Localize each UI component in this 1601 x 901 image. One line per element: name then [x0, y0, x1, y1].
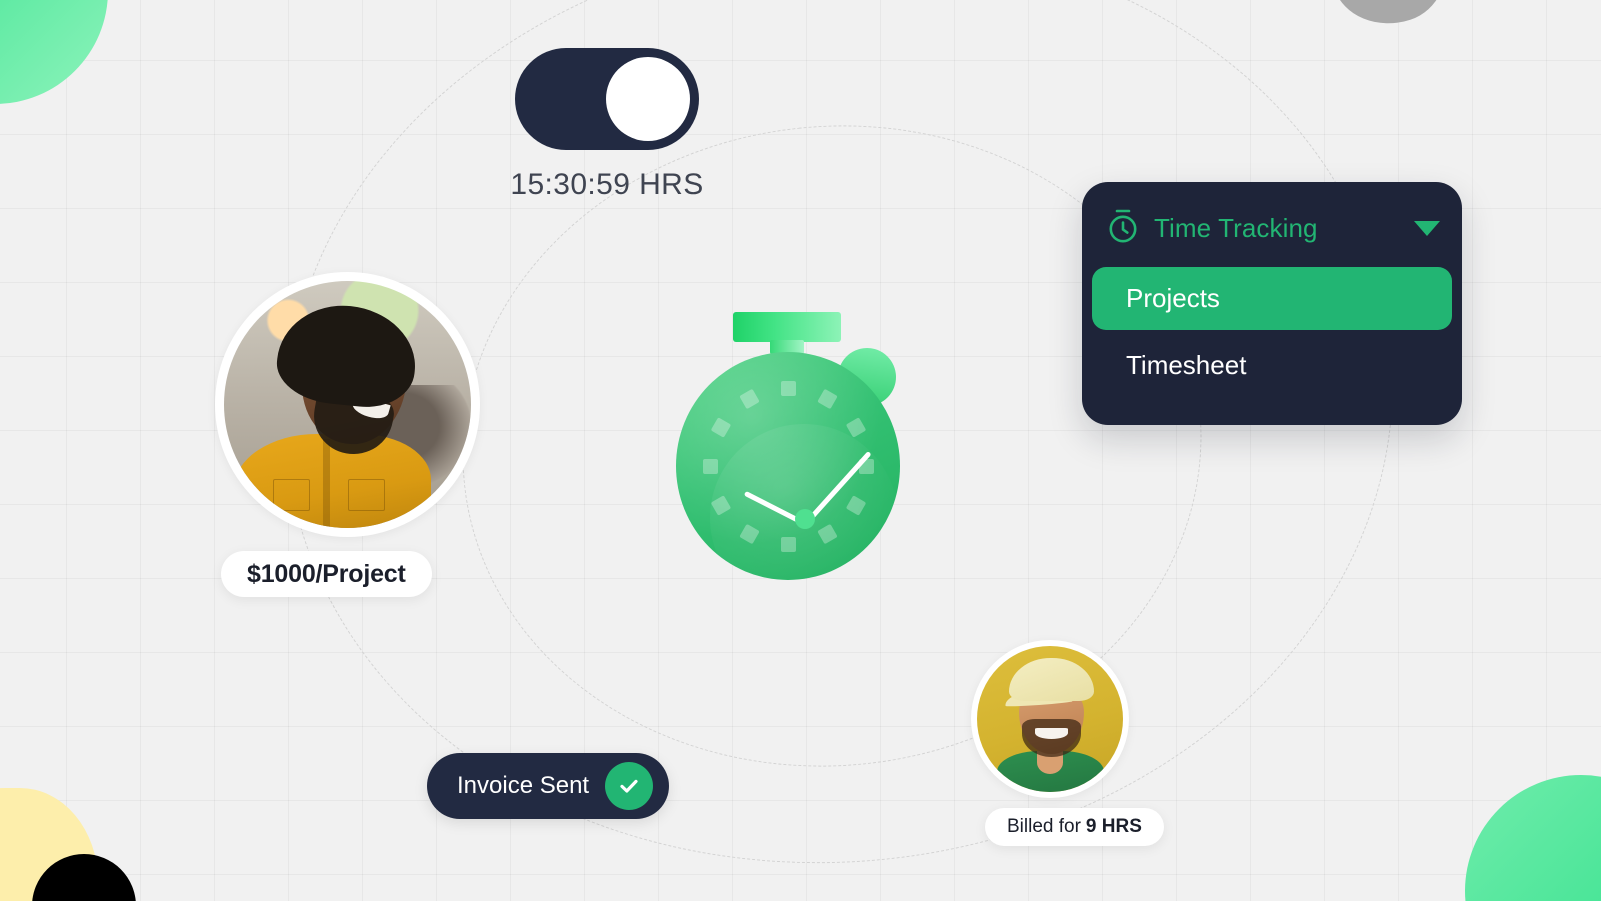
avatar-client-photo — [977, 646, 1123, 792]
stopwatch-body — [676, 352, 900, 580]
rate-badge: $1000/Project — [221, 551, 432, 597]
avatar-hair — [274, 299, 422, 412]
billed-hours-value: 9 HRS — [1086, 816, 1142, 838]
elapsed-time-label: 15:30:59 HRS — [400, 168, 814, 202]
stopwatch-illustration — [660, 300, 910, 580]
stopwatch-center-pin — [795, 509, 815, 529]
timer-toggle-switch[interactable] — [515, 48, 699, 150]
stopwatch-tick — [781, 537, 796, 552]
avatar-freelancer — [215, 272, 480, 537]
time-tracking-dropdown: Time Tracking Projects Timesheet — [1082, 182, 1462, 425]
toggle-knob — [606, 57, 690, 141]
avatar-shirt-pocket-left — [273, 479, 310, 511]
avatar-shirt-placket — [323, 439, 330, 528]
stopwatch-tick — [817, 388, 837, 408]
chevron-down-icon[interactable] — [1414, 221, 1440, 236]
stopwatch-tick — [703, 459, 718, 474]
invoice-sent-label: Invoice Sent — [457, 772, 589, 800]
avatar-client — [971, 640, 1129, 798]
stopwatch-tick — [781, 381, 796, 396]
invoice-sent-pill[interactable]: Invoice Sent — [427, 753, 669, 819]
avatar-freelancer-photo — [224, 281, 471, 528]
dropdown-item-timesheet[interactable]: Timesheet — [1092, 334, 1452, 397]
decor-blob-top-right-gray — [1315, 0, 1461, 39]
stopwatch-icon — [1106, 208, 1140, 249]
billed-hours-badge: Billed for 9 HRS — [985, 808, 1164, 846]
stopwatch-tick — [710, 417, 730, 437]
dropdown-header[interactable]: Time Tracking — [1082, 194, 1462, 263]
decor-blob-top-left-green — [0, 0, 108, 104]
decor-blob-bottom-right-green — [1465, 775, 1601, 901]
dropdown-title: Time Tracking — [1154, 213, 1400, 244]
hero-illustration-canvas: 15:30:59 HRS $1000/Project — [0, 0, 1601, 901]
avatar-client-cap — [1009, 658, 1094, 702]
stopwatch-tick — [739, 388, 759, 408]
billed-prefix-label: Billed for — [1007, 816, 1081, 838]
check-icon — [605, 762, 653, 810]
stopwatch-top-button — [733, 312, 841, 342]
avatar-shirt-pocket-right — [348, 479, 385, 511]
dropdown-item-projects[interactable]: Projects — [1092, 267, 1452, 330]
